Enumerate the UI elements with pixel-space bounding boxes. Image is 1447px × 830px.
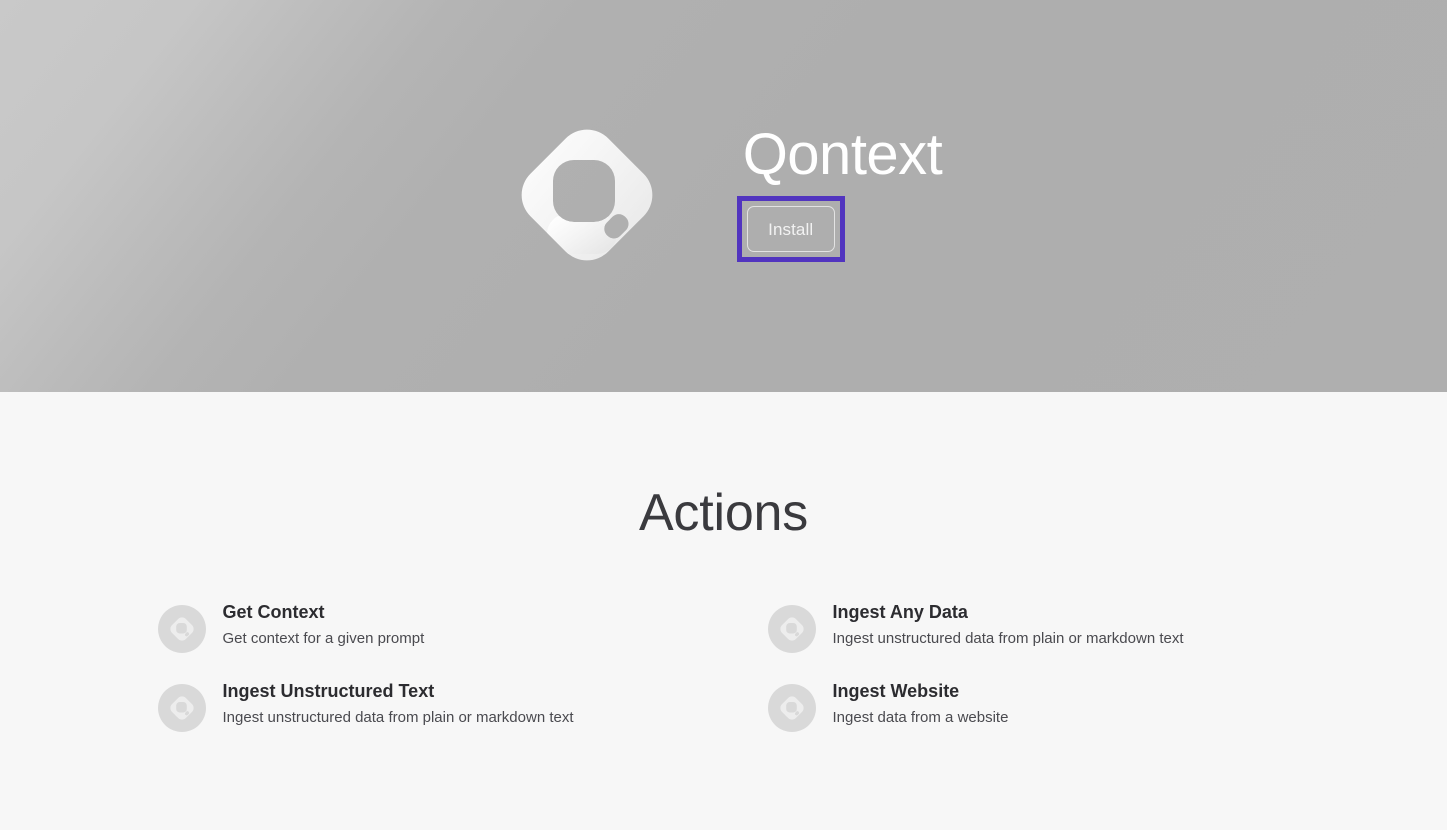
action-title: Ingest Unstructured Text <box>223 681 574 703</box>
action-item-ingest-unstructured-text[interactable]: Ingest Unstructured Text Ingest unstruct… <box>158 680 728 732</box>
action-title: Ingest Website <box>833 681 1009 703</box>
action-item-ingest-website[interactable]: Ingest Website Ingest data from a websit… <box>768 680 1338 732</box>
page-title: Qontext <box>743 126 943 184</box>
hero-banner: Qontext Install <box>0 0 1447 392</box>
hero-content: Qontext Install <box>0 0 1447 392</box>
app-root: Qontext Install Actions <box>0 0 1447 830</box>
action-description: Ingest data from a website <box>833 709 1009 728</box>
qontext-logo-icon <box>505 113 669 277</box>
action-description: Ingest unstructured data from plain or m… <box>833 630 1184 649</box>
action-body: Ingest Any Data Ingest unstructured data… <box>833 601 1184 648</box>
hero-text-block: Qontext Install <box>737 126 943 262</box>
actions-section: Actions <box>0 392 1447 830</box>
action-item-ingest-any-data[interactable]: Ingest Any Data Ingest unstructured data… <box>768 601 1338 653</box>
action-item-get-context[interactable]: Get Context Get context for a given prom… <box>158 601 728 653</box>
install-button-highlight: Install <box>737 196 845 262</box>
action-description: Ingest unstructured data from plain or m… <box>223 709 574 728</box>
actions-grid: Get Context Get context for a given prom… <box>134 601 1314 732</box>
action-description: Get context for a given prompt <box>223 630 425 649</box>
action-title: Ingest Any Data <box>833 602 1184 624</box>
install-button[interactable]: Install <box>747 206 835 252</box>
qontext-mark-icon <box>768 605 816 653</box>
qontext-mark-icon <box>158 605 206 653</box>
qontext-mark-icon <box>158 684 206 732</box>
action-body: Ingest Website Ingest data from a websit… <box>833 680 1009 727</box>
qontext-mark-icon <box>768 684 816 732</box>
actions-heading: Actions <box>0 487 1447 539</box>
action-body: Ingest Unstructured Text Ingest unstruct… <box>223 680 574 727</box>
action-body: Get Context Get context for a given prom… <box>223 601 425 648</box>
action-title: Get Context <box>223 602 425 624</box>
